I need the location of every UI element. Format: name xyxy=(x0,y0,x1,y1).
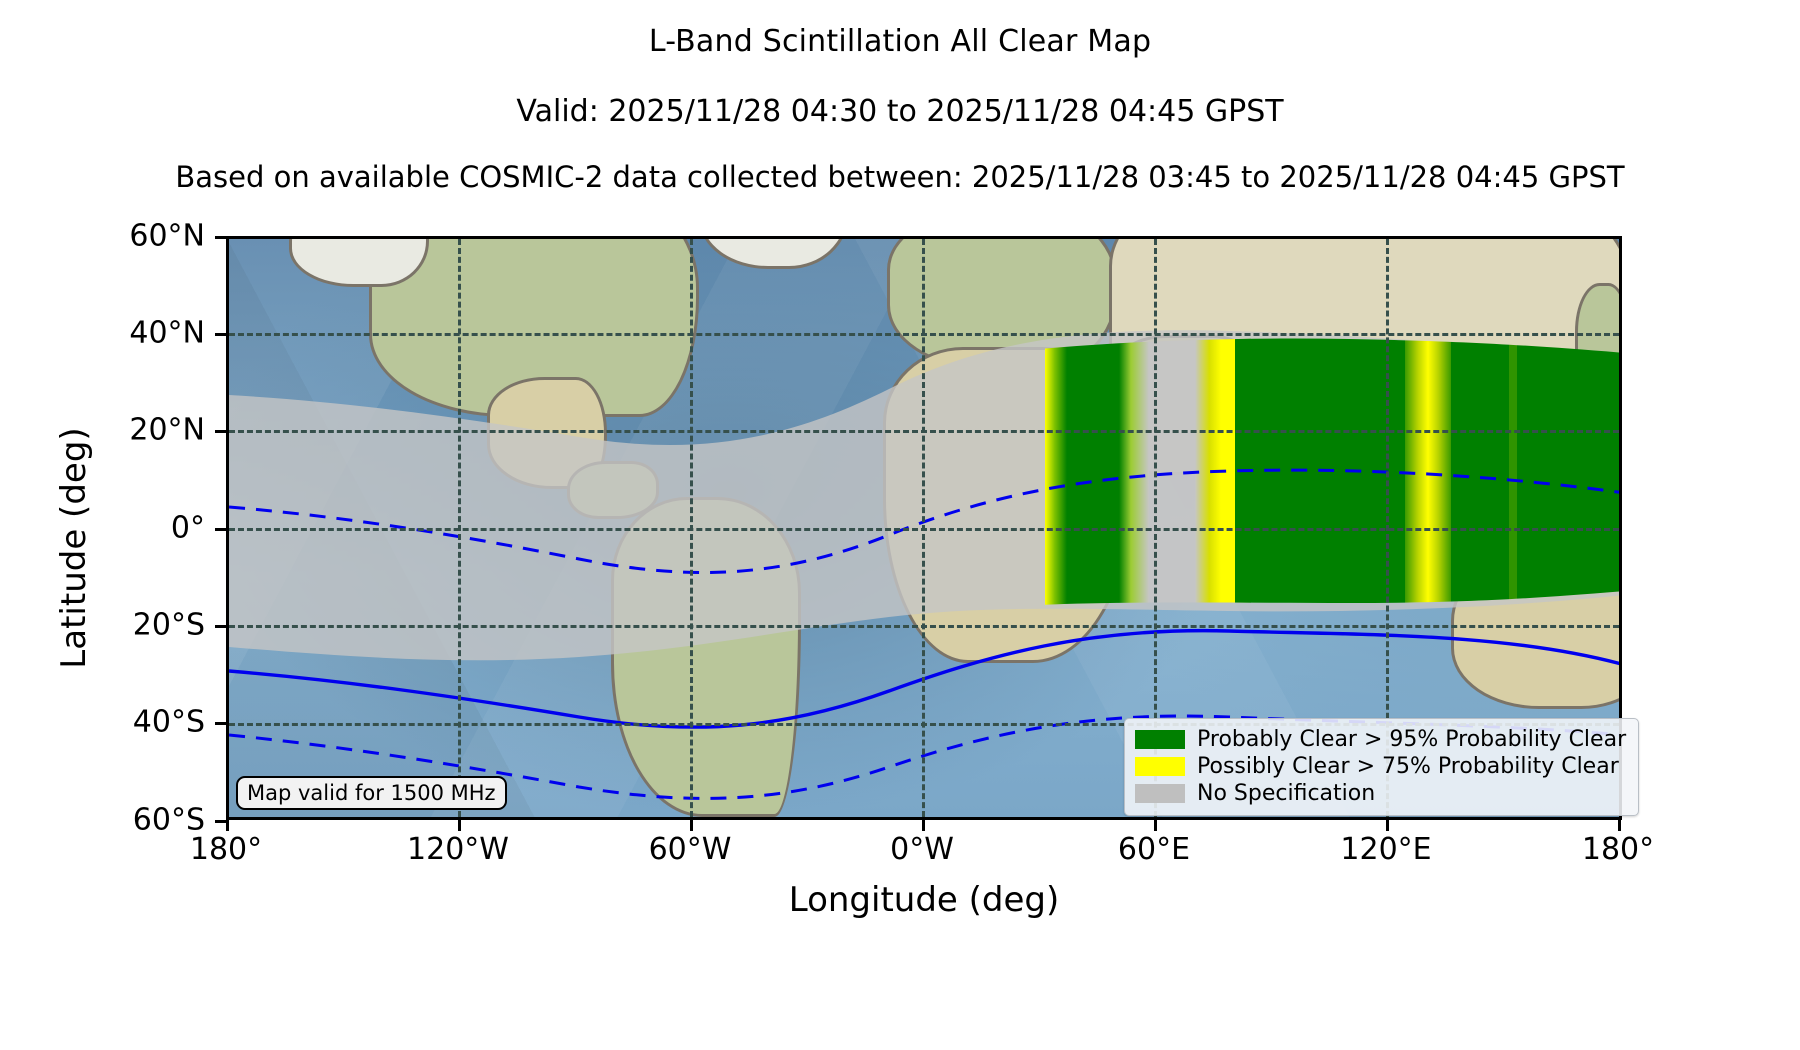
landmass-australia xyxy=(1451,557,1622,709)
legend-item-possibly-clear[interactable]: Possibly Clear > 75% Probability Clear xyxy=(1135,753,1626,780)
tick-y-4 xyxy=(215,625,226,628)
legend-label-probably-clear: Probably Clear > 95% Probability Clear xyxy=(1197,727,1626,752)
x-tick-label-5: 120°E xyxy=(1340,832,1431,867)
tick-x-5 xyxy=(1386,820,1389,831)
legend-swatch-no-specification-icon xyxy=(1135,784,1185,803)
legend-swatch-probably-clear-icon xyxy=(1135,730,1185,749)
legend-swatch-possibly-clear-icon xyxy=(1135,757,1185,776)
tick-x-3 xyxy=(922,820,925,831)
landmass-south-america xyxy=(611,497,801,817)
data-source-subtitle: Based on available COSMIC-2 data collect… xyxy=(0,160,1800,194)
landmass-japan xyxy=(1575,283,1622,411)
map-legend[interactable]: Probably Clear > 95% Probability Clear P… xyxy=(1124,718,1639,816)
tick-y-1 xyxy=(215,333,226,336)
landmass-southeast-asia xyxy=(1397,415,1587,555)
x-tick-label-6: 180° xyxy=(1582,832,1654,867)
legend-label-possibly-clear: Possibly Clear > 75% Probability Clear xyxy=(1197,754,1619,779)
x-tick-label-3: 0°W xyxy=(890,832,954,867)
y-tick-label-6: 60°S xyxy=(0,803,205,838)
y-tick-label-4: 20°S xyxy=(0,608,205,643)
tick-x-4 xyxy=(1154,820,1157,831)
y-tick-label-2: 20°N xyxy=(0,413,205,448)
tick-x-0 xyxy=(226,820,229,831)
tick-y-6 xyxy=(215,820,226,823)
x-axis-title: Longitude (deg) xyxy=(226,880,1622,920)
tick-x-2 xyxy=(690,820,693,831)
tick-x-1 xyxy=(458,820,461,831)
y-tick-label-0: 60°N xyxy=(0,219,205,254)
y-axis-title: Latitude (deg) xyxy=(54,238,94,858)
legend-label-no-specification: No Specification xyxy=(1197,781,1375,806)
frequency-annotation: Map valid for 1500 MHz xyxy=(236,776,507,810)
y-tick-label-3: 0° xyxy=(0,511,205,546)
landmass-middle-east xyxy=(1101,335,1271,475)
x-tick-label-4: 60°E xyxy=(1118,832,1190,867)
valid-time-subtitle: Valid: 2025/11/28 04:30 to 2025/11/28 04… xyxy=(0,94,1800,129)
x-tick-label-1: 120°W xyxy=(407,832,509,867)
page-title: L-Band Scintillation All Clear Map xyxy=(0,24,1800,59)
tick-y-5 xyxy=(215,722,226,725)
tick-x-6 xyxy=(1618,820,1621,831)
y-tick-label-5: 40°S xyxy=(0,705,205,740)
tick-y-2 xyxy=(215,430,226,433)
legend-item-probably-clear[interactable]: Probably Clear > 95% Probability Clear xyxy=(1135,726,1626,753)
tick-y-0 xyxy=(215,236,226,239)
landmass-africa xyxy=(883,347,1133,663)
x-tick-label-2: 60°W xyxy=(649,832,732,867)
tick-y-3 xyxy=(215,528,226,531)
y-tick-label-1: 40°N xyxy=(0,316,205,351)
legend-item-no-specification[interactable]: No Specification xyxy=(1135,780,1626,807)
